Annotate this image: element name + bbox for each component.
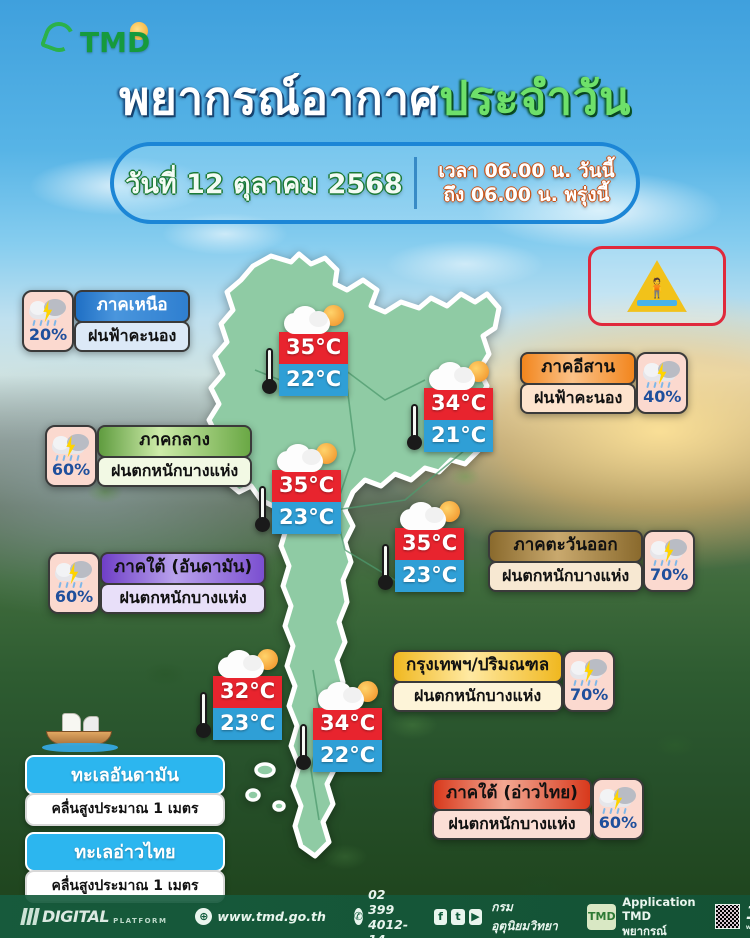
- temp-high: 35°C: [395, 528, 464, 560]
- thunderstorm-icon: [569, 659, 609, 686]
- rain-probability: 60%: [52, 462, 90, 478]
- facebook-icon[interactable]: f: [434, 909, 447, 925]
- digital-text: DIGITAL: [42, 907, 109, 926]
- temp-high: 32°C: [213, 676, 282, 708]
- temp-high: 34°C: [424, 388, 493, 420]
- sea-conditions: ทะเลอันดามัน คลื่นสูงประมาณ 1 เมตร ทะเลอ…: [25, 755, 225, 909]
- region-name: กรุงเทพฯ/ปริมณฑล: [392, 650, 563, 683]
- region-card-bangkok[interactable]: กรุงเทพฯ/ปริมณฑล ฝนตกหนักบางแห่ง 70%: [392, 650, 615, 712]
- rain-chance-chip: 60%: [45, 425, 97, 487]
- partly-cloudy-icon: [400, 500, 462, 530]
- region-name: ภาคใต้ (อันดามัน): [100, 552, 266, 585]
- partly-cloudy-icon: [277, 442, 339, 472]
- rain-probability: 60%: [599, 815, 637, 831]
- region-forecast: ฝนฟ้าคะนอง: [520, 383, 636, 414]
- region-forecast: ฝนตกหนักบางแห่ง: [432, 809, 592, 840]
- app-label: Application TMD พยากรณ์: [622, 895, 697, 938]
- temp-marker-northeast: 34°C 21°C: [407, 388, 493, 452]
- temp-high: 34°C: [313, 708, 382, 740]
- thermometer-icon: [407, 404, 422, 450]
- temp-high: 35°C: [272, 470, 341, 502]
- rain-probability: 60%: [55, 589, 93, 605]
- youtube-icon[interactable]: ▶: [469, 909, 482, 925]
- footer-bar: DIGITAL PLATFORM ⊕ www.tmd.go.th ✆ 02 39…: [0, 895, 750, 938]
- sea-card-andaman[interactable]: ทะเลอันดามัน คลื่นสูงประมาณ 1 เมตร: [25, 755, 225, 826]
- phone-text: 02 399 4012-14: [368, 887, 416, 938]
- date-time-bar: วันที่ 12 ตุลาคม 2568 เวลา 06.00 น. วันน…: [110, 142, 640, 224]
- rain-chance-chip: 70%: [563, 650, 615, 712]
- temp-marker-east: 35°C 23°C: [378, 528, 464, 592]
- tmd-swoosh-icon: [40, 18, 78, 56]
- sea-name: ทะเลอ่าวไทย: [25, 832, 225, 872]
- divider: [414, 157, 417, 209]
- region-card-east[interactable]: ภาคตะวันออก ฝนตกหนักบางแห่ง 70%: [488, 530, 695, 592]
- hotline-info: 1182 www.tmd.go.th: [715, 902, 750, 931]
- temp-marker-north: 35°C 22°C: [262, 332, 348, 396]
- thermometer-icon: [255, 486, 270, 532]
- region-card-south-andaman[interactable]: 60% ภาคใต้ (อันดามัน) ฝนตกหนักบางแห่ง: [48, 552, 266, 614]
- partly-cloudy-icon: [429, 360, 491, 390]
- rain-chance-chip: 60%: [48, 552, 100, 614]
- temp-low: 22°C: [313, 740, 382, 772]
- bars-icon: [22, 908, 38, 925]
- hotline-block: 1182 www.tmd.go.th: [746, 902, 750, 931]
- rain-chance-chip: 20%: [22, 290, 74, 352]
- region-card-south-gulf[interactable]: ภาคใต้ (อ่าวไทย) ฝนตกหนักบางแห่ง 60%: [432, 778, 644, 840]
- weather-infographic: TMD พยากรณ์อากาศประจำวัน วันที่ 12 ตุลาค…: [0, 0, 750, 938]
- thunderstorm-icon: [642, 361, 682, 388]
- temp-marker-central: 35°C 23°C: [255, 470, 341, 534]
- sea-card-gulf[interactable]: ทะเลอ่าวไทย คลื่นสูงประมาณ 1 เมตร: [25, 832, 225, 903]
- tmd-logo: TMD: [22, 18, 152, 66]
- app-line-1: Application: [622, 895, 697, 909]
- temp-high: 35°C: [279, 332, 348, 364]
- region-name: ภาคอีสาน: [520, 352, 636, 385]
- thermometer-icon: [262, 348, 277, 394]
- period-line-1: เวลา 06.00 น. วันนี้: [417, 159, 636, 183]
- partly-cloudy-icon: [218, 648, 280, 678]
- region-name: ภาคกลาง: [97, 425, 252, 458]
- flood-warning-triangle-icon: 🧍: [626, 259, 688, 313]
- thunderstorm-icon: [598, 787, 638, 814]
- title-part-1: พยากรณ์อากาศ: [119, 71, 439, 125]
- rain-chance-chip: 40%: [636, 352, 688, 414]
- temp-low: 21°C: [424, 420, 493, 452]
- sea-name: ทะเลอันดามัน: [25, 755, 225, 795]
- phone-icon: ✆: [354, 908, 363, 925]
- app-line-2: TMD พยากรณ์: [622, 909, 697, 938]
- region-name: ภาคเหนือ: [74, 290, 190, 323]
- page-title: พยากรณ์อากาศประจำวัน: [0, 72, 750, 125]
- region-forecast: ฝนตกหนักบางแห่ง: [392, 681, 563, 712]
- rain-probability: 70%: [570, 687, 608, 703]
- digital-platform-logo: DIGITAL PLATFORM: [22, 907, 167, 926]
- rain-probability: 70%: [650, 567, 688, 583]
- tmd-app-info[interactable]: TMD Application TMD พยากรณ์: [587, 895, 696, 938]
- tmd-app-icon: TMD: [587, 904, 616, 930]
- qr-code-icon[interactable]: [715, 904, 740, 929]
- region-forecast: ฝนตกหนักบางแห่ง: [488, 561, 643, 592]
- hotline-site: www.tmd.go.th: [746, 924, 750, 931]
- region-forecast: ฝนตกหนักบางแห่ง: [97, 456, 252, 487]
- temp-marker-south-gulf: 34°C 22°C: [296, 708, 382, 772]
- region-forecast: ฝนตกหนักบางแห่ง: [100, 583, 266, 614]
- thermometer-icon: [296, 724, 311, 770]
- region-name: ภาคตะวันออก: [488, 530, 643, 563]
- region-card-north[interactable]: 20% ภาคเหนือ ฝนฟ้าคะนอง: [22, 290, 190, 352]
- rain-probability: 20%: [29, 327, 67, 343]
- title-part-2: ประจำวัน: [439, 71, 631, 125]
- region-card-northeast[interactable]: ภาคอีสาน ฝนฟ้าคะนอง 40%: [520, 352, 688, 414]
- thunderstorm-icon: [54, 561, 94, 588]
- globe-icon: ⊕: [195, 908, 212, 925]
- department-name: กรมอุตุนิยมวิทยา: [491, 898, 565, 936]
- thermometer-icon: [196, 692, 211, 738]
- rain-chance-chip: 70%: [643, 530, 695, 592]
- thermometer-icon: [378, 544, 393, 590]
- flood-warning-box: 🧍: [588, 246, 726, 326]
- forecast-period: เวลา 06.00 น. วันนี้ ถึง 06.00 น. พรุ่งน…: [417, 159, 636, 208]
- temp-marker-south-andaman: 32°C 23°C: [196, 676, 282, 740]
- sailboat-icon: [42, 712, 120, 754]
- temp-low: 22°C: [279, 364, 348, 396]
- partly-cloudy-icon: [284, 304, 346, 334]
- forecast-date: วันที่ 12 ตุลาคม 2568: [114, 162, 414, 205]
- sea-wave-height: คลื่นสูงประมาณ 1 เมตร: [25, 793, 225, 826]
- temp-low: 23°C: [395, 560, 464, 592]
- region-forecast: ฝนฟ้าคะนอง: [74, 321, 190, 352]
- website-text: www.tmd.go.th: [217, 909, 325, 924]
- thunderstorm-icon: [28, 299, 68, 326]
- temp-low: 23°C: [272, 502, 341, 534]
- partly-cloudy-icon: [318, 680, 380, 710]
- twitter-icon[interactable]: t: [451, 909, 464, 925]
- region-name: ภาคใต้ (อ่าวไทย): [432, 778, 592, 811]
- rain-chance-chip: 60%: [592, 778, 644, 840]
- hotline-number: 1182: [746, 902, 750, 924]
- thunderstorm-icon: [649, 539, 689, 566]
- rain-probability: 40%: [643, 389, 681, 405]
- tmd-logo-text: TMD: [80, 26, 150, 59]
- platform-text: PLATFORM: [113, 917, 167, 925]
- region-card-central[interactable]: 60% ภาคกลาง ฝนตกหนักบางแห่ง: [45, 425, 252, 487]
- temp-low: 23°C: [213, 708, 282, 740]
- social-links[interactable]: f t ▶ กรมอุตุนิยมวิทยา: [434, 898, 566, 936]
- period-line-2: ถึง 06.00 น. พรุ่งนี้: [417, 183, 636, 207]
- website-link[interactable]: ⊕ www.tmd.go.th: [195, 908, 325, 925]
- thunderstorm-icon: [51, 434, 91, 461]
- phone-info[interactable]: ✆ 02 399 4012-14: [354, 887, 416, 938]
